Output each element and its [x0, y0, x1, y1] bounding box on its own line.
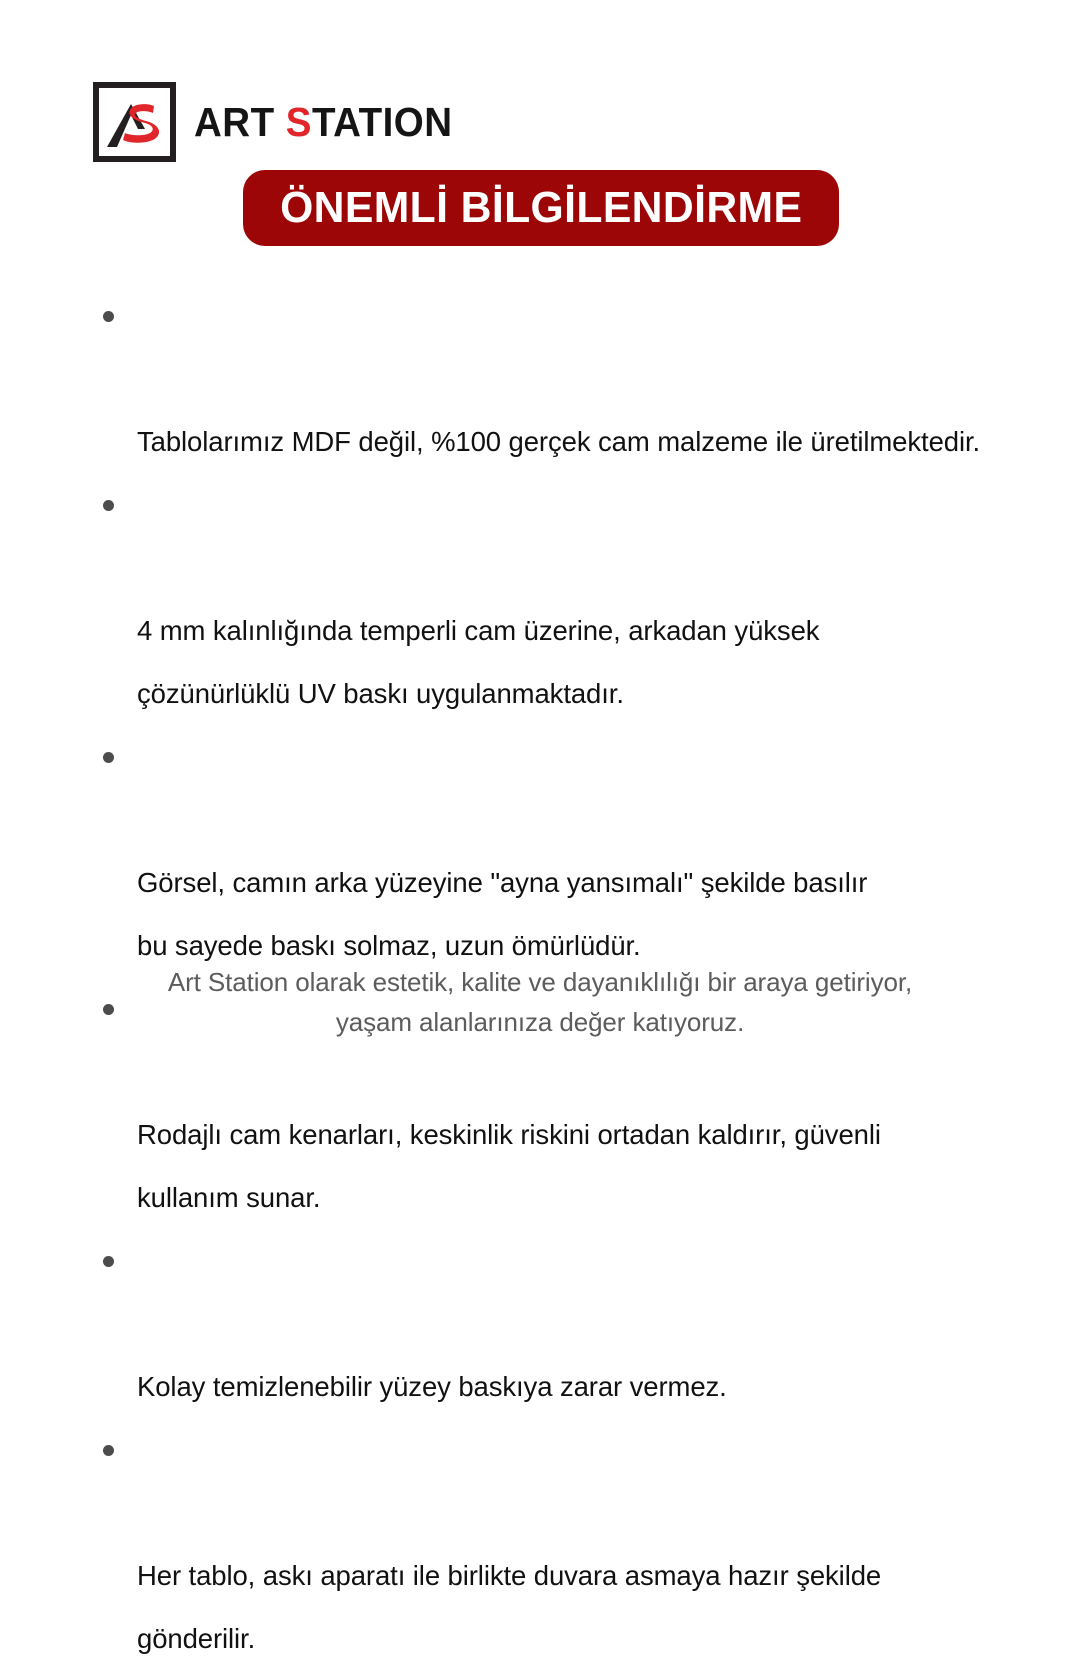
bullet-dot-icon: [103, 752, 114, 763]
bullet-dot-icon: [103, 311, 114, 322]
brand-wordmark-accent: S: [286, 99, 312, 145]
list-item-text: Görsel, camın arka yüzeyine "ayna yansım…: [137, 867, 867, 961]
headline-banner: ÖNEMLİ BİLGİLENDİRME: [243, 170, 839, 246]
list-item-text: Kolay temizlenebilir yüzey baskıya zarar…: [137, 1371, 727, 1402]
list-item: Görsel, camın arka yüzeyine "ayna yansım…: [96, 725, 1036, 977]
headline-banner-title: ÖNEMLİ BİLGİLENDİRME: [280, 186, 802, 230]
brand-wordmark: ART STATION: [194, 102, 453, 143]
list-item-text: 4 mm kalınlığında temperli cam üzerine, …: [137, 615, 819, 709]
bullet-dot-icon: [103, 1256, 114, 1267]
list-item-text: Tablolarımız MDF değil, %100 gerçek cam …: [137, 426, 980, 457]
bullet-dot-icon: [103, 1445, 114, 1456]
list-item-text: Her tablo, askı aparatı ile birlikte duv…: [137, 1560, 881, 1654]
as-monogram-logo-icon: [93, 82, 176, 162]
list-item: Her tablo, askı aparatı ile birlikte duv…: [96, 1418, 1036, 1670]
list-item-text: Rodajlı cam kenarları, keskinlik riskini…: [137, 1119, 881, 1213]
list-item: Tablolarımız MDF değil, %100 gerçek cam …: [96, 284, 1036, 473]
footer-strapline: Art Station olarak estetik, kalite ve da…: [0, 962, 1080, 1042]
brand-wordmark-part2: TATION: [312, 99, 453, 145]
brand-header: ART STATION: [93, 82, 469, 162]
list-item: 4 mm kalınlığında temperli cam üzerine, …: [96, 473, 1036, 725]
list-item: Kolay temizlenebilir yüzey baskıya zarar…: [96, 1229, 1036, 1418]
informational-poster: ART STATION ÖNEMLİ BİLGİLENDİRME Tablola…: [0, 0, 1080, 1080]
brand-wordmark-part1: ART: [194, 99, 286, 145]
bullet-dot-icon: [103, 500, 114, 511]
